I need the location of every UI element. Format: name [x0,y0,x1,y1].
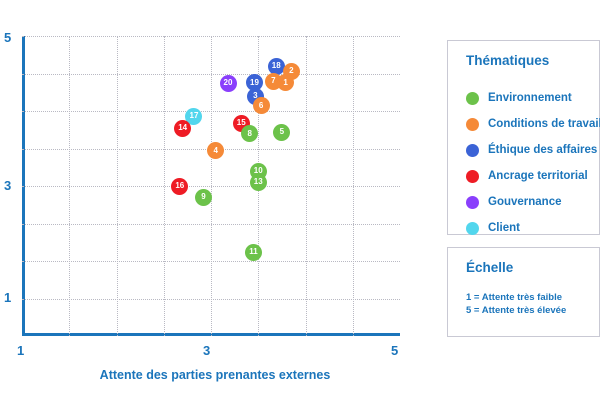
scale-line: 1 = Attente très faible [466,291,566,304]
legend-item-label: Ancrage territorial [488,170,588,182]
legend-items: EnvironnementConditions de travailÉthiqu… [466,85,600,241]
legend-item[interactable]: Gouvernance [466,189,600,215]
materiality-matrix-chart: 18220197136171514854101316911 1 3 5 1 3 … [0,0,430,400]
legend-color-dot-icon [466,170,479,183]
gridline-vertical [353,36,354,336]
data-point-bubble: 13 [250,174,267,191]
legend-panel: Thématiques EnvironnementConditions de t… [447,40,600,235]
legend-item-label: Éthique des affaires [488,144,597,156]
data-point-bubble: 8 [241,125,258,142]
legend-title: Thématiques [466,53,549,68]
gridline-vertical [211,36,212,336]
scale-panel: Échelle 1 = Attente très faible5 = Atten… [447,247,600,337]
legend-color-dot-icon [466,144,479,157]
scale-line: 5 = Attente très élevée [466,304,566,317]
legend-item[interactable]: Client [466,215,600,241]
legend-item[interactable]: Environnement [466,85,600,111]
legend-color-dot-icon [466,222,479,235]
y-tick-3: 3 [4,178,11,193]
legend-item-label: Environnement [488,92,572,104]
scale-title: Échelle [466,260,513,275]
x-axis-label: Attente des parties prenantes externes [0,368,430,382]
x-tick-5: 5 [391,343,398,358]
y-tick-1: 1 [4,290,11,305]
legend-item-label: Gouvernance [488,196,562,208]
y-tick-5: 5 [4,30,11,45]
legend-item[interactable]: Ancrage territorial [466,163,600,189]
data-point-bubble: 11 [245,244,262,261]
legend-item-label: Client [488,222,520,234]
gridline-vertical [69,36,70,336]
gridline-vertical [164,36,165,336]
gridline-vertical [117,36,118,336]
scale-lines: 1 = Attente très faible5 = Attente très … [466,291,566,317]
x-tick-3: 3 [203,343,210,358]
legend-color-dot-icon [466,196,479,209]
data-point-bubble: 14 [174,120,191,137]
data-point-bubble: 20 [220,75,237,92]
plot-area: 18220197136171514854101316911 [22,36,400,336]
data-point-bubble: 5 [273,124,290,141]
x-tick-1: 1 [17,343,24,358]
data-point-bubble: 9 [195,189,212,206]
legend-color-dot-icon [466,92,479,105]
legend-item-label: Conditions de travail [488,118,600,130]
legend-color-dot-icon [466,118,479,131]
legend-item[interactable]: Éthique des affaires [466,137,600,163]
gridline-vertical [306,36,307,336]
data-point-bubble: 6 [253,97,270,114]
data-point-bubble: 1 [277,74,294,91]
data-point-bubble: 16 [171,178,188,195]
legend-item[interactable]: Conditions de travail [466,111,600,137]
chart-screenshot: 18220197136171514854101316911 1 3 5 1 3 … [0,0,600,400]
data-point-bubble: 4 [207,142,224,159]
